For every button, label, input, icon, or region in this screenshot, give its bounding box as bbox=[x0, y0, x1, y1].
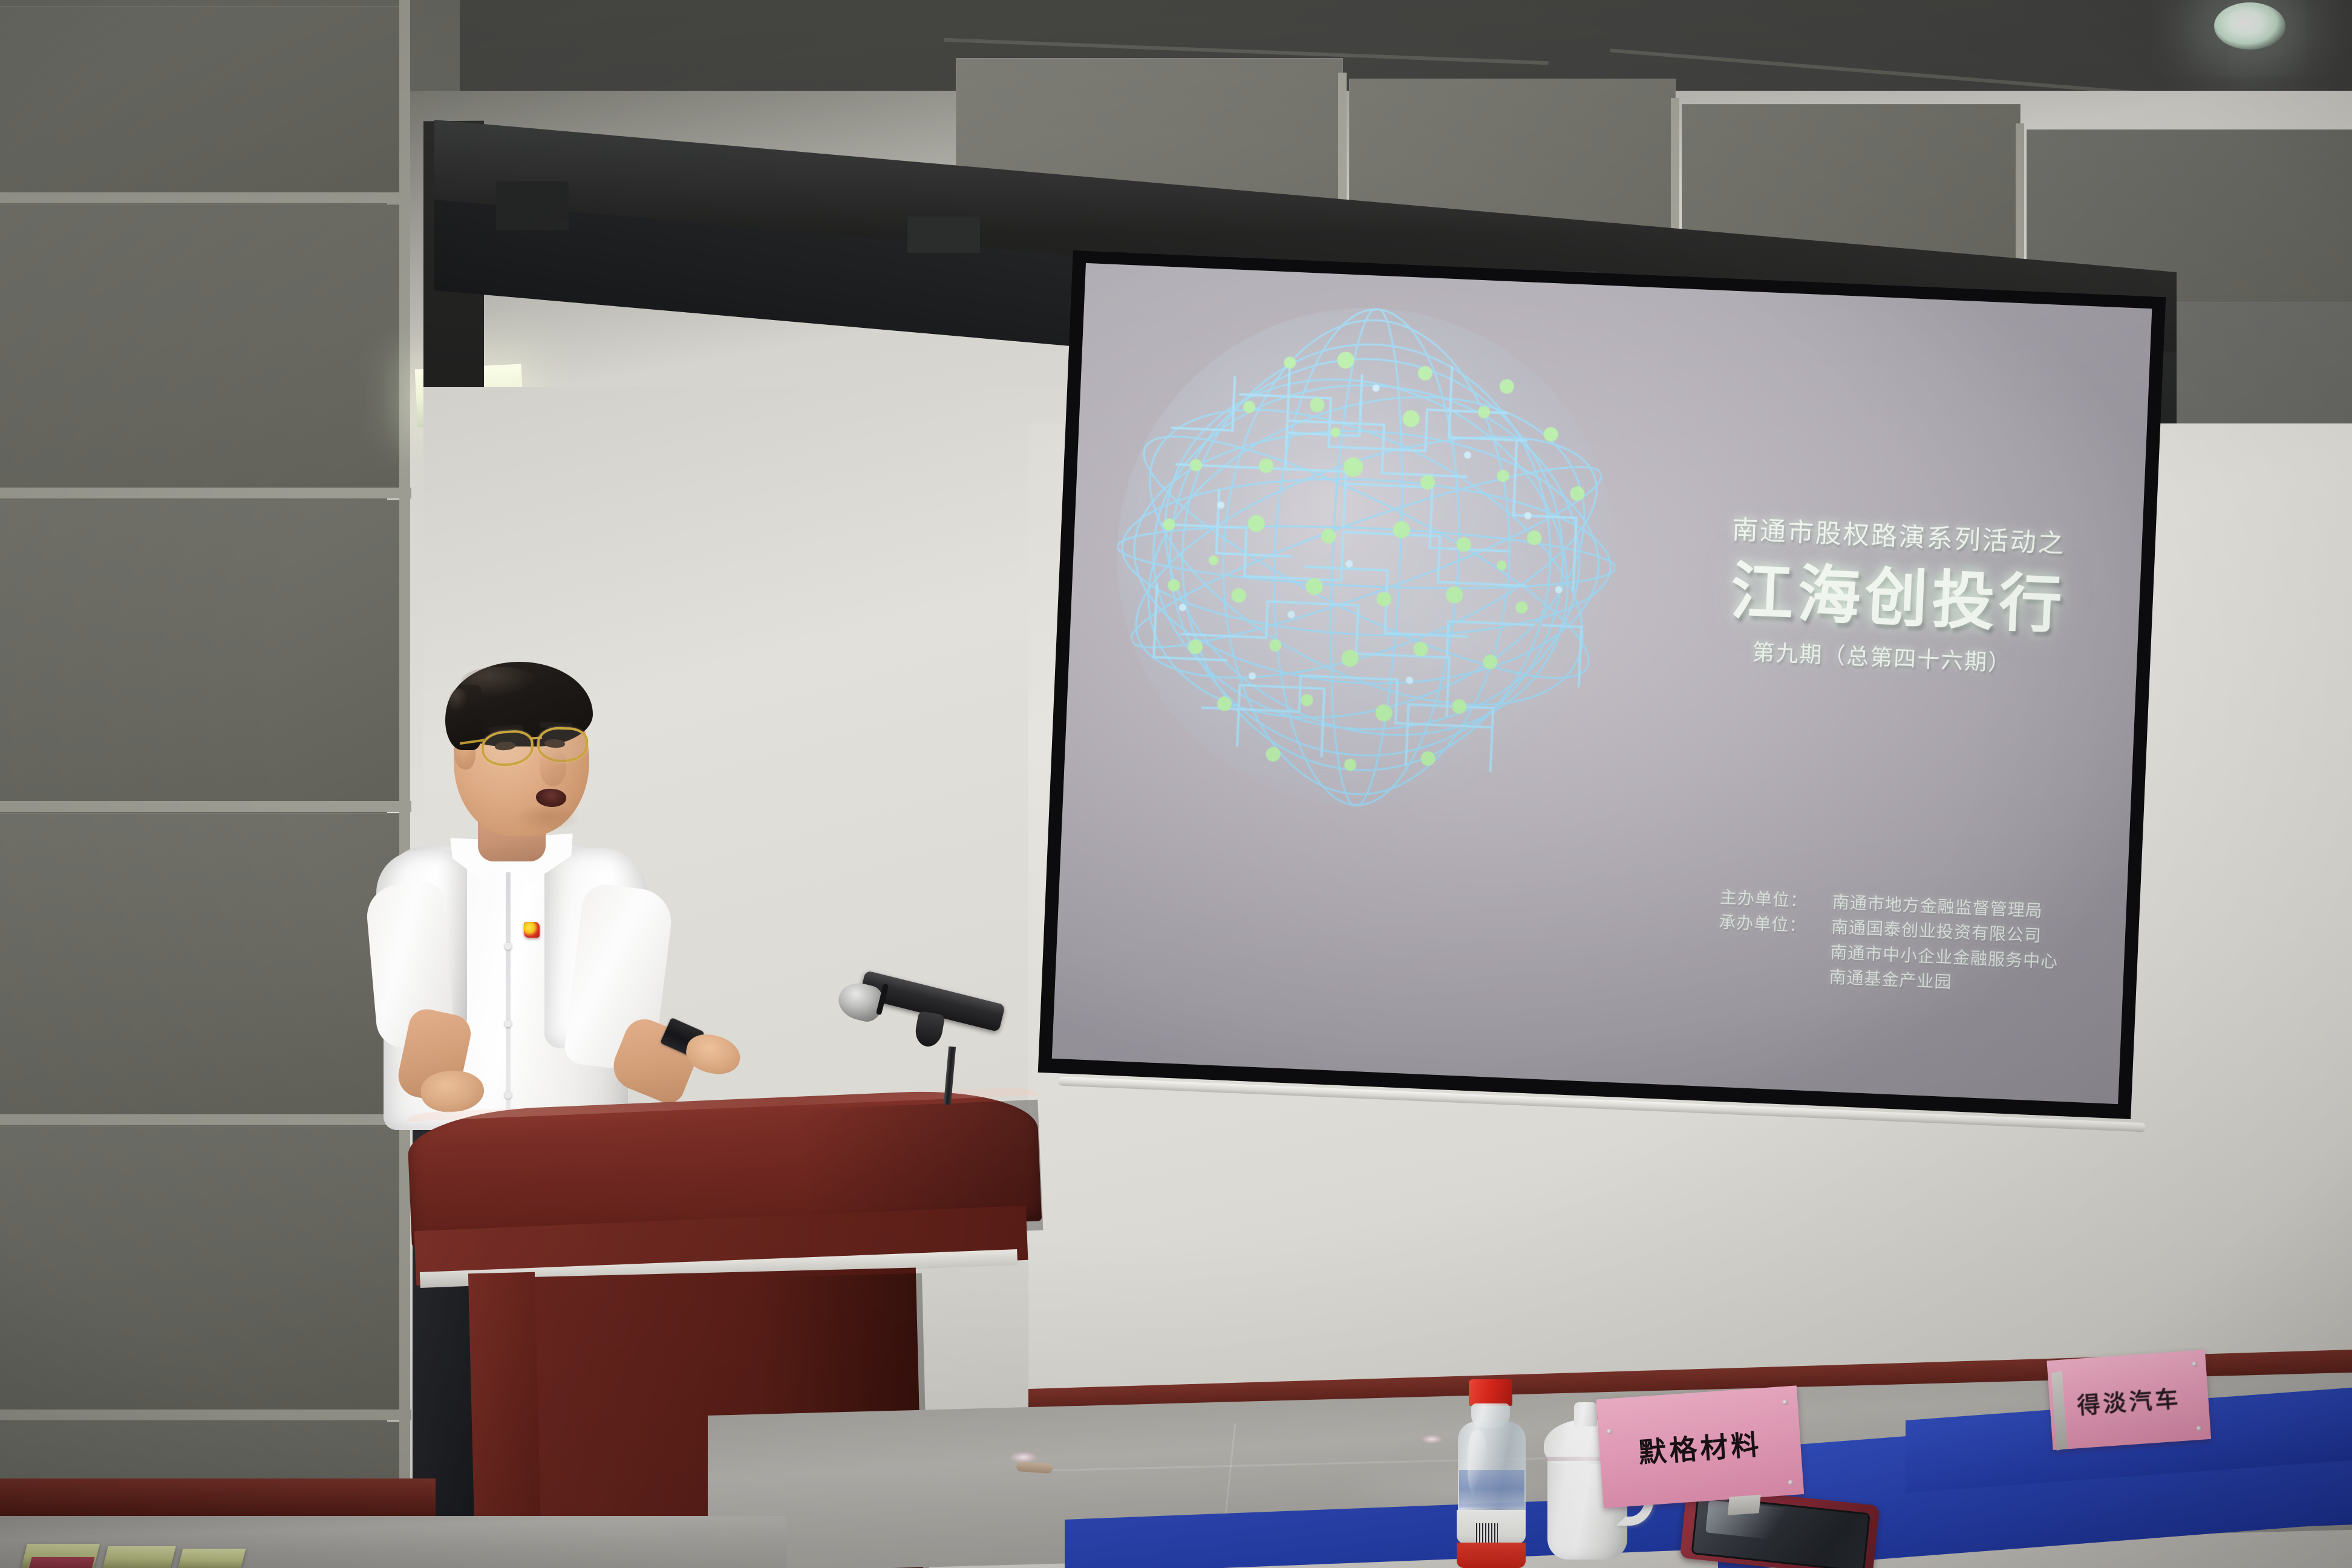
wall-panel-seam bbox=[0, 801, 411, 812]
bulkhead-bracket bbox=[496, 181, 569, 230]
credit-value: 南通基金产业园 bbox=[1829, 967, 1952, 993]
mug-lid-knob[interactable] bbox=[1574, 1402, 1597, 1426]
wall-panel bbox=[0, 813, 405, 1116]
wall-panel-seam bbox=[0, 1114, 411, 1125]
placard-screw bbox=[1607, 1429, 1613, 1435]
wall-panel bbox=[0, 1126, 405, 1411]
slide-title: 江海创投行 bbox=[1729, 558, 2067, 639]
bottle-barcode-icon bbox=[1476, 1523, 1498, 1543]
wall-panel bbox=[0, 204, 405, 489]
placard-label: 默格材料 bbox=[1637, 1423, 1763, 1471]
microphone[interactable] bbox=[828, 961, 1045, 1160]
floor-placard bbox=[102, 1546, 175, 1568]
wall-panel-seam bbox=[0, 1410, 411, 1420]
wall-panel-seam bbox=[0, 192, 411, 203]
floor-placard-side bbox=[29, 1557, 95, 1568]
party-emblem-lapel-pin-icon bbox=[524, 922, 540, 938]
slide-subtitle: 第九期（总第四十六期） bbox=[1752, 641, 2012, 676]
speaker-shirt-placket bbox=[506, 872, 511, 1126]
wall-panel-seam bbox=[0, 488, 411, 498]
bottle-label-red bbox=[1457, 1543, 1526, 1568]
floor-glint bbox=[1422, 1435, 1442, 1443]
placard-screw bbox=[1788, 1480, 1794, 1486]
floor-glint bbox=[1010, 1452, 1037, 1463]
microphone-stand-stem bbox=[944, 1047, 956, 1105]
water-bottle[interactable] bbox=[1451, 1379, 1541, 1568]
credit-label bbox=[1716, 978, 1829, 983]
placard-screw bbox=[2197, 1426, 2203, 1432]
shirt-button bbox=[505, 1020, 512, 1027]
name-placard-2: 得淡汽车 bbox=[2047, 1347, 2248, 1481]
name-placard-1: 默格材料 bbox=[1596, 1383, 1835, 1538]
screen-surface: 南通市股权路演系列活动之 江海创投行 第九期（总第四十六期） 主办单位：南通市地… bbox=[1052, 263, 2152, 1104]
bottle-cap bbox=[1469, 1379, 1512, 1406]
wall-panel bbox=[0, 6, 405, 194]
recessed-spotlight-icon bbox=[2214, 2, 2285, 50]
projection-screen: 南通市股权路演系列活动之 江海创投行 第九期（总第四十六期） 主办单位：南通市地… bbox=[1038, 250, 2166, 1119]
floor-placard bbox=[178, 1549, 246, 1568]
placard-screw bbox=[2192, 1361, 2198, 1367]
network-globe-icon bbox=[1089, 280, 1644, 835]
placard-screw bbox=[1782, 1399, 1788, 1405]
placard-stand bbox=[1728, 1495, 1761, 1515]
credit-label bbox=[1717, 953, 1830, 958]
slide-kicker: 南通市股权路演系列活动之 bbox=[1731, 516, 2066, 559]
microphone-clip bbox=[913, 1011, 945, 1049]
speaker-nose bbox=[540, 749, 566, 786]
bottle-highlight bbox=[1468, 1430, 1487, 1497]
bulkhead-bracket bbox=[907, 217, 980, 253]
wall-panel bbox=[0, 500, 405, 802]
slide-credits: 主办单位：南通市地方金融监督管理局 承办单位：南通国泰创业投资有限公司 南通市中… bbox=[1716, 885, 2061, 1000]
floor-placards-group bbox=[24, 1541, 224, 1568]
speaker-chin-shadow bbox=[514, 803, 581, 831]
shirt-button bbox=[505, 942, 512, 950]
photo-scene: 南通市股权路演系列活动之 江海创投行 第九期（总第四十六期） 主办单位：南通市地… bbox=[0, 0, 2352, 1568]
placard-label: 得淡汽车 bbox=[2076, 1380, 2182, 1420]
